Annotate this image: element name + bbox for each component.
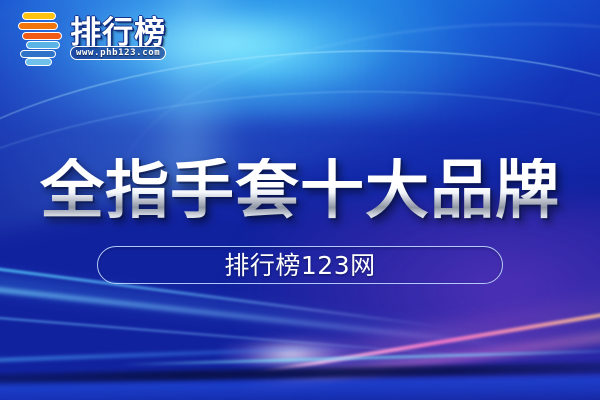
logo-mark-icon [14, 10, 66, 68]
logo-bar-2 [18, 22, 58, 30]
banner-image: 排行榜 www.phb123.com 全指手套十大品牌 排行榜123网 [0, 0, 600, 400]
logo-text-group: 排行榜 www.phb123.com [70, 18, 166, 60]
logo-url-badge: www.phb123.com [70, 46, 166, 60]
logo-bar-5 [20, 50, 56, 58]
logo-bar-4 [26, 41, 60, 49]
site-logo[interactable]: 排行榜 www.phb123.com [14, 10, 166, 68]
subtitle-label: 排行榜123网 [224, 253, 375, 278]
logo-bar-1 [22, 12, 56, 20]
page-title: 全指手套十大品牌 [0, 158, 600, 225]
logo-bar-3 [22, 32, 62, 40]
logo-bar-6 [25, 58, 52, 66]
logo-wordmark: 排行榜 [70, 18, 166, 49]
page-title-text: 全指手套十大品牌 [40, 158, 560, 225]
subtitle-pill: 排行榜123网 [97, 246, 503, 284]
